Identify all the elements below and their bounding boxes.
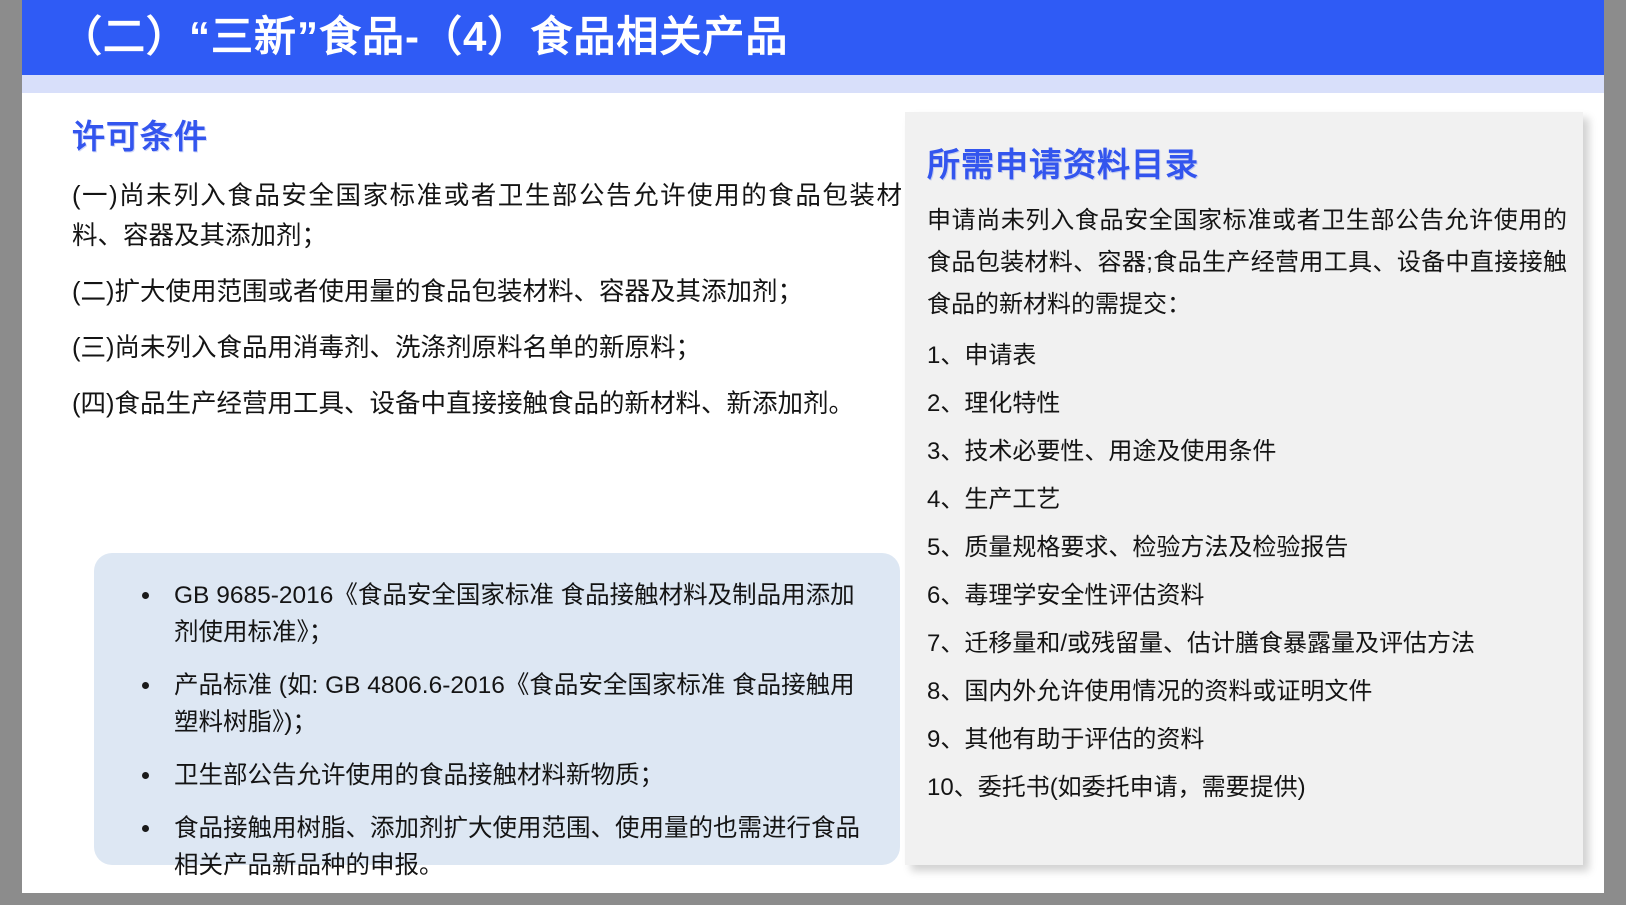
bullet-text: 卫生部公告允许使用的食品接触材料新物质； (174, 762, 664, 789)
list-item: 7、迁移量和/或残留量、估计膳食暴露量及评估方法 (927, 620, 1567, 668)
left-column: 许可条件 (一)尚未列入食品安全国家标准或者卫生部公告允许使用的食品包装材料、容… (72, 110, 902, 440)
header-accent-strip (22, 75, 1604, 93)
list-item: 5、质量规格要求、检验方法及检验报告 (927, 524, 1567, 572)
list-item: 10、委托书(如委托申请，需要提供) (927, 764, 1567, 812)
list-item: 食品接触用树脂、添加剂扩大使用范围、使用量的也需进行食品相关产品新品种的申报。 (120, 810, 874, 884)
standards-bullet-list: GB 9685-2016《食品安全国家标准 食品接触材料及制品用添加剂使用标准》… (120, 577, 874, 884)
list-item: 2、理化特性 (927, 380, 1567, 428)
bullet-text: 食品接触用树脂、添加剂扩大使用范围、使用量的也需进行食品相关产品新品种的申报。 (174, 815, 860, 879)
standards-callout-box: GB 9685-2016《食品安全国家标准 食品接触材料及制品用添加剂使用标准》… (94, 553, 900, 865)
list-item: 6、毒理学安全性评估资料 (927, 572, 1567, 620)
bullet-dot-icon (142, 682, 149, 689)
list-item: 4、生产工艺 (927, 476, 1567, 524)
bullet-text: 产品标准 (如: GB 4806.6-2016《食品安全国家标准 食品接触用塑料… (174, 672, 855, 736)
bullet-dot-icon (142, 772, 149, 779)
page-title: （二）“三新”食品-（4）食品相关产品 (60, 6, 788, 68)
required-documents-panel: 所需申请资料目录 申请尚未列入食品安全国家标准或者卫生部公告允许使用的食品包装材… (905, 112, 1583, 865)
list-item: GB 9685-2016《食品安全国家标准 食品接触材料及制品用添加剂使用标准》… (120, 577, 874, 651)
frame-bottom-edge (0, 893, 1626, 905)
list-item: 9、其他有助于评估的资料 (927, 716, 1567, 764)
condition-item-4: (四)食品生产经营用工具、设备中直接接触食品的新材料、新添加剂。 (72, 384, 902, 424)
condition-item-1: (一)尚未列入食品安全国家标准或者卫生部公告允许使用的食品包装材料、容器及其添加… (72, 176, 902, 256)
slide-viewport: （二）“三新”食品-（4）食品相关产品 许可条件 (一)尚未列入食品安全国家标准… (0, 0, 1626, 905)
bullet-dot-icon (142, 825, 149, 832)
slide-page: （二）“三新”食品-（4）食品相关产品 许可条件 (一)尚未列入食品安全国家标准… (22, 0, 1604, 895)
bullet-dot-icon (142, 592, 149, 599)
left-column-heading: 许可条件 (72, 110, 902, 158)
list-item: 卫生部公告允许使用的食品接触材料新物质； (120, 757, 874, 794)
list-item: 3、技术必要性、用途及使用条件 (927, 428, 1567, 476)
list-item: 1、申请表 (927, 332, 1567, 380)
list-item: 产品标准 (如: GB 4806.6-2016《食品安全国家标准 食品接触用塑料… (120, 667, 874, 741)
list-item: 8、国内外允许使用情况的资料或证明文件 (927, 668, 1567, 716)
right-column-heading: 所需申请资料目录 (927, 138, 1567, 186)
condition-item-2: (二)扩大使用范围或者使用量的食品包装材料、容器及其添加剂； (72, 272, 902, 312)
required-documents-list: 1、申请表 2、理化特性 3、技术必要性、用途及使用条件 4、生产工艺 5、质量… (927, 332, 1567, 812)
condition-item-3: (三)尚未列入食品用消毒剂、洗涤剂原料名单的新原料； (72, 328, 902, 368)
required-documents-intro: 申请尚未列入食品安全国家标准或者卫生部公告允许使用的食品包装材料、容器;食品生产… (927, 200, 1567, 326)
bullet-text: GB 9685-2016《食品安全国家标准 食品接触材料及制品用添加剂使用标准》… (174, 582, 855, 646)
